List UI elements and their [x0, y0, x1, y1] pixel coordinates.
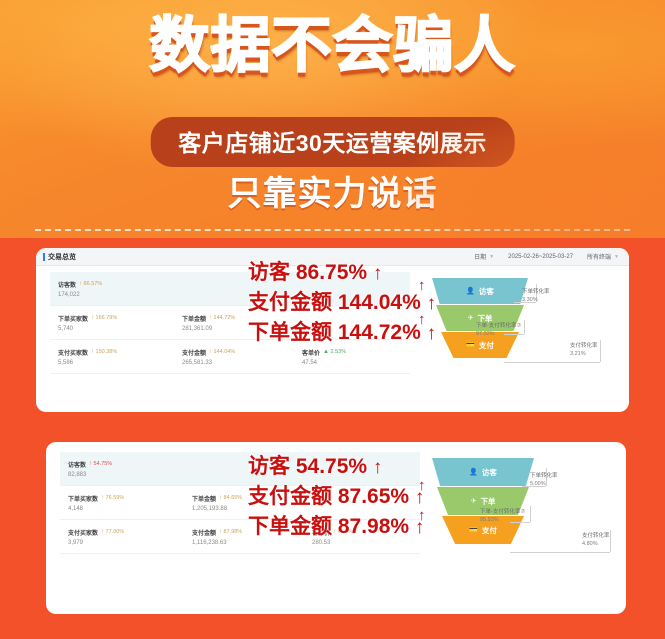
arrow-up-icon: ↑	[427, 323, 437, 344]
overlay-label: 支付金额	[248, 291, 332, 314]
overlay-label: 访客	[248, 455, 290, 478]
metric-label: 下单金额	[182, 314, 206, 323]
arrow-up-icon: ↑	[415, 487, 425, 508]
metric-delta-value: 2.53%	[331, 349, 347, 355]
metric-delta-value: 76.59%	[106, 495, 125, 501]
overlay-value: 144.72%	[338, 321, 421, 344]
trend-up-icon: ↑	[91, 349, 94, 355]
conversion-label: 支付转化率	[570, 342, 598, 350]
conversion-label-pay-rate: 支付转化率 4.80%	[582, 532, 610, 549]
metric-delta: ↑ 144.72%	[209, 315, 235, 321]
metric-label: 客单价	[302, 348, 320, 357]
overlay-value: 87.65%	[338, 485, 409, 508]
overlay-label: 下单金额	[248, 515, 332, 538]
funnel-shape: 👤 访客 ✈ 下单 💳 支付	[432, 458, 534, 545]
metric-delta-value: 144.04%	[214, 349, 236, 355]
metric-cell-visitors[interactable]: 访客数 ↑ 54.75% 82,883	[60, 460, 184, 478]
overlay-line: 下单金额 144.72% ↑	[248, 318, 436, 348]
metric-value: 82,883	[68, 472, 184, 478]
wallet-icon: 💳	[469, 527, 478, 534]
metric-cell-pay-buyers[interactable]: 支付买家数 ↑ 150.38% 5,586	[50, 348, 174, 366]
arrow-up-icon: ↑	[373, 263, 383, 284]
trend-up-icon: ↑	[209, 315, 212, 321]
conversion-label-order-to-pay: 下单-支付转化率⑦ 97.32%	[476, 322, 521, 339]
arrow-up-icon: ↑	[373, 457, 383, 478]
metric-cell-pay-buyers[interactable]: 支付买家数 ↑ 77.00% 3,979	[60, 528, 184, 546]
metric-delta-value: 150.38%	[96, 349, 118, 355]
metric-delta: ↑ 166.79%	[91, 315, 117, 321]
metric-delta: ↑ 86.57%	[79, 281, 102, 287]
metric-value: 3,979	[68, 540, 184, 546]
trend-up-icon: ↑	[89, 461, 92, 467]
overlay-label: 下单金额	[248, 321, 332, 344]
title-accent-bar	[43, 253, 45, 261]
overlay-value: 86.75%	[296, 261, 367, 284]
leader-line	[504, 362, 600, 363]
metric-delta: ↑ 76.59%	[101, 495, 124, 501]
conversion-label-order-to-pay: 下单-支付转化率⑦ 95.93%	[480, 508, 525, 525]
conversion-label: 下单转化率	[522, 288, 550, 296]
trend-up-icon: ↑	[219, 495, 222, 501]
cart-icon: ✈	[468, 315, 474, 322]
metric-cell-order-buyers[interactable]: 下单买家数 ↑ 166.79% 5,740	[50, 314, 174, 332]
metric-label: 支付买家数	[68, 528, 98, 537]
overlay-label: 访客	[248, 261, 290, 284]
leader-line	[524, 320, 525, 334]
funnel-stage-label: 支付	[479, 340, 494, 351]
metric-value: 5,740	[58, 326, 174, 332]
slogan-text: 只靠实力说话	[0, 166, 665, 215]
conversion-funnel-2: ↑ ↑ 👤 访客 ✈ 下单 💳 支付 下单转化率 5.00% 下单-支付转化	[418, 452, 626, 597]
metric-value: 5,586	[58, 360, 174, 366]
metric-cell-avg-order[interactable]: 客单价 ▲ 2.53% 47.54	[294, 348, 404, 366]
date-range-value[interactable]: 2025-02-26~2025-03-27	[508, 254, 573, 260]
metric-delta: ↑ 84.65%	[219, 495, 242, 501]
conversion-value: 95.93%	[480, 517, 499, 523]
date-filter-dropdown[interactable]: 日期 ▼	[474, 252, 494, 261]
metric-value: 4,148	[68, 506, 184, 512]
metric-label: 下单买家数	[58, 314, 88, 323]
overlay-value: 87.98%	[338, 515, 409, 538]
overlay-line: 访客 54.75% ↑	[248, 452, 424, 482]
metric-label: 支付金额	[182, 348, 206, 357]
metric-value: 265,581.33	[182, 360, 294, 366]
metric-delta: ↑ 87.98%	[219, 529, 242, 535]
conversion-label: 下单-支付转化率⑦	[480, 508, 525, 516]
cart-icon: ✈	[471, 498, 477, 505]
trend-up-icon: ↑	[219, 529, 222, 535]
trend-up-icon: ↑	[101, 495, 104, 501]
overlay-line: 支付金额 144.04% ↑	[248, 288, 436, 318]
funnel-stage-label: 支付	[482, 525, 497, 536]
hero-banner: 数据不会骗人 客户店铺近30天运营案例展示 只靠实力说话	[0, 0, 665, 238]
metric-delta: ↑ 150.38%	[91, 349, 117, 355]
overlay-value: 54.75%	[296, 455, 367, 478]
trend-up-icon: ▲	[323, 349, 329, 355]
metric-value: 47.54	[302, 360, 404, 366]
conversion-label-order-rate: 下单转化率 3.30%	[522, 288, 550, 305]
overlay-line: 支付金额 87.65% ↑	[248, 482, 424, 512]
conversion-label: 支付转化率	[582, 532, 610, 540]
person-icon: 👤	[469, 469, 478, 476]
panel-header-controls: 日期 ▼ 2025-02-26~2025-03-27 所有终端 ▼	[474, 252, 619, 261]
dashed-divider	[35, 229, 630, 231]
chevron-down-icon: ▼	[614, 254, 619, 260]
conversion-label-pay-rate: 支付转化率 3.21%	[570, 342, 598, 359]
conversion-funnel-1: ↑ ↑ 👤 访客 ✈ 下单 💳 支付 下单转化率 3.30% 下单-支付转化	[418, 272, 626, 400]
conversion-value: 97.32%	[476, 331, 495, 337]
conversion-label-order-rate: 下单转化率 5.00%	[530, 472, 558, 489]
metric-cell-pay-amount[interactable]: 支付金额 ↑ 144.04% 265,581.33	[174, 348, 294, 366]
trend-up-icon: ↑	[91, 315, 94, 321]
leader-line	[610, 530, 611, 552]
conversion-label: 下单转化率	[530, 472, 558, 480]
conversion-value: 3.30%	[522, 297, 538, 303]
funnel-stage-label: 访客	[482, 467, 497, 478]
metric-delta-value: 87.98%	[224, 529, 243, 535]
metric-delta: ↑ 77.00%	[101, 529, 124, 535]
metric-delta-value: 144.72%	[214, 315, 236, 321]
wallet-icon: 💳	[466, 342, 475, 349]
overlay-line: 访客 86.75% ↑	[248, 258, 436, 288]
metric-delta-value: 86.57%	[84, 281, 103, 287]
metric-label: 访客数	[68, 460, 86, 469]
panel-title-text: 交易总览	[48, 252, 76, 262]
metric-delta-value: 77.00%	[106, 529, 125, 535]
dashboard-panel-1: 交易总览 日期 ▼ 2025-02-26~2025-03-27 所有终端 ▼ 访…	[36, 248, 629, 412]
metric-cell-visitors[interactable]: 访客数 ↑ 86.57% 174,022	[50, 280, 174, 298]
metric-value: 174,022	[58, 292, 174, 298]
metric-delta-value: 54.75%	[94, 461, 113, 467]
overlay-line: 下单金额 87.98% ↑	[248, 512, 424, 542]
metric-label: 支付买家数	[58, 348, 88, 357]
conversion-label: 下单-支付转化率⑦	[476, 322, 521, 330]
person-icon: 👤	[466, 288, 475, 295]
metric-label: 下单买家数	[68, 494, 98, 503]
conversion-value: 5.00%	[530, 481, 546, 487]
chevron-down-icon: ▼	[489, 254, 494, 260]
subtitle-pill: 客户店铺近30天运营案例展示	[150, 117, 515, 167]
metric-delta: ↑ 54.75%	[89, 461, 112, 467]
date-filter-label: 日期	[474, 252, 486, 261]
funnel-stage-visitor[interactable]: 👤 访客	[432, 278, 528, 304]
dashboard-panel-2: 访客数 ↑ 54.75% 82,883 下单买家数 ↑ 76.59% 4,148…	[46, 442, 626, 614]
conversion-value: 4.80%	[582, 541, 598, 547]
metric-label: 访客数	[58, 280, 76, 289]
overlay-highlights-2: 访客 54.75% ↑ 支付金额 87.65% ↑ 下单金额 87.98% ↑	[248, 452, 424, 542]
overlay-highlights-1: 访客 86.75% ↑ 支付金额 144.04% ↑ 下单金额 144.72% …	[248, 258, 436, 348]
terminal-filter-label: 所有终端	[587, 252, 611, 261]
leader-line	[530, 506, 531, 522]
metric-delta: ↑ 144.04%	[209, 349, 235, 355]
metric-label: 支付金额	[192, 528, 216, 537]
metric-cell-order-buyers[interactable]: 下单买家数 ↑ 76.59% 4,148	[60, 494, 184, 512]
arrow-up-icon: ↑	[427, 293, 437, 314]
metric-delta-value: 166.79%	[96, 315, 118, 321]
arrow-up-icon: ↑	[415, 517, 425, 538]
trend-up-icon: ↑	[209, 349, 212, 355]
trend-up-icon: ↑	[101, 529, 104, 535]
overlay-label: 支付金额	[248, 485, 332, 508]
panel-title: 交易总览	[43, 252, 76, 262]
metric-label: 下单金额	[192, 494, 216, 503]
leader-line	[510, 552, 610, 553]
overlay-value: 144.04%	[338, 291, 421, 314]
trend-up-icon: ↑	[79, 281, 82, 287]
metric-delta: ▲ 2.53%	[323, 349, 346, 355]
terminal-filter-dropdown[interactable]: 所有终端 ▼	[587, 252, 619, 261]
funnel-stage-label: 访客	[479, 286, 494, 297]
subtitle-text: 客户店铺近30天运营案例展示	[178, 130, 487, 156]
conversion-value: 3.21%	[570, 351, 586, 357]
metric-delta-value: 84.65%	[224, 495, 243, 501]
funnel-stage-visitor[interactable]: 👤 访客	[432, 458, 534, 486]
page-title: 数据不会骗人	[0, 16, 665, 76]
funnel-stage-label: 下单	[480, 496, 495, 507]
funnel-shape: 👤 访客 ✈ 下单 💳 支付	[432, 278, 528, 359]
leader-line	[600, 340, 601, 362]
